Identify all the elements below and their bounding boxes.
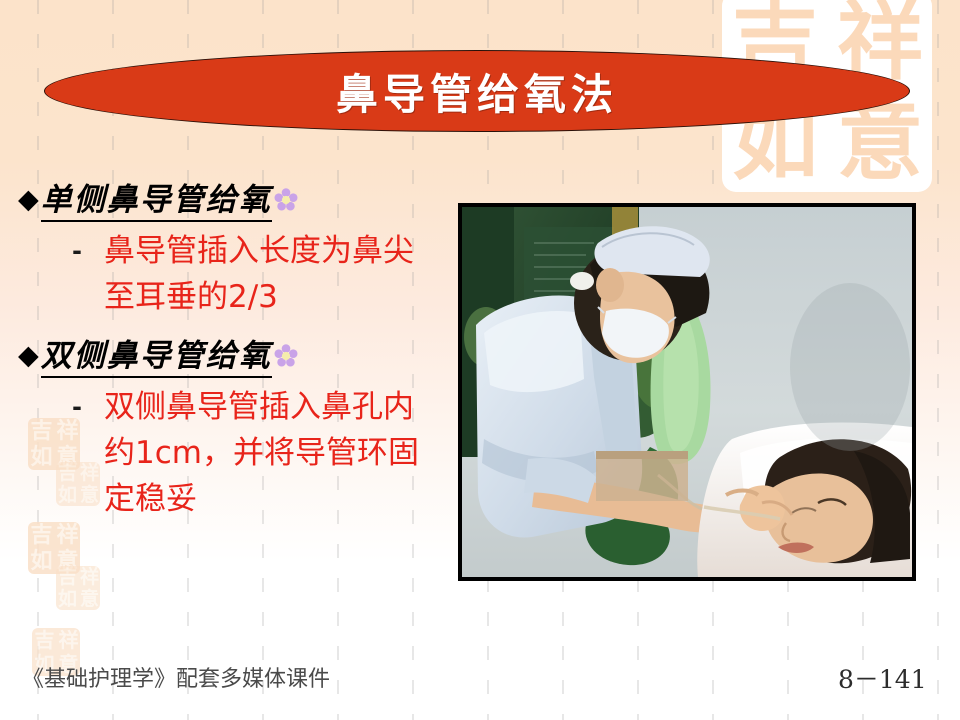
seal-watermark-small: 吉祥如意: [56, 566, 100, 610]
diamond-bullet-icon: ◆: [18, 336, 39, 376]
seal-watermark-small-text: 吉祥如意: [56, 566, 100, 610]
clinical-photo-graphic: [462, 207, 912, 577]
bullet-item-1: ◆ 单侧鼻导管给氧: [0, 180, 460, 222]
bullet-heading-2: 双侧鼻导管给氧: [41, 336, 272, 378]
sub-item-1: - 鼻导管插入长度为鼻尖至耳垂的2/3: [0, 228, 460, 320]
flower-icon: [274, 188, 298, 216]
sub-item-text-2: 双侧鼻导管插入鼻孔内约1cm，并将导管环固定稳妥: [104, 384, 434, 522]
bullet-item-2: ◆ 双侧鼻导管给氧: [0, 336, 460, 378]
content-column: ◆ 单侧鼻导管给氧 - 鼻导管插入长度为鼻尖至耳垂的2/3: [0, 180, 460, 522]
footer-page-number: 8－141: [838, 660, 927, 696]
sub-dash-marker: -: [72, 228, 104, 274]
flower-icon: [274, 344, 298, 372]
diamond-bullet-icon: ◆: [18, 180, 39, 220]
gridline: [937, 0, 939, 720]
sub-item-2: - 双侧鼻导管插入鼻孔内约1cm，并将导管环固定稳妥: [0, 384, 460, 522]
clinical-photo: [458, 203, 916, 581]
slide-canvas: 吉祥如意 吉祥如意 吉祥如意 吉祥如意 吉祥如意 吉祥如意 鼻导管给氧法 ◆ 单…: [0, 0, 960, 720]
slide-title-banner: 鼻导管给氧法: [44, 50, 910, 132]
page-title: 鼻导管给氧法: [336, 61, 618, 122]
sub-dash-marker: -: [72, 384, 104, 430]
sub-item-text-1: 鼻导管插入长度为鼻尖至耳垂的2/3: [104, 228, 434, 320]
bullet-heading-1: 单侧鼻导管给氧: [41, 180, 272, 222]
footer-course-label: 《基础护理学》配套多媒体课件: [22, 661, 330, 693]
